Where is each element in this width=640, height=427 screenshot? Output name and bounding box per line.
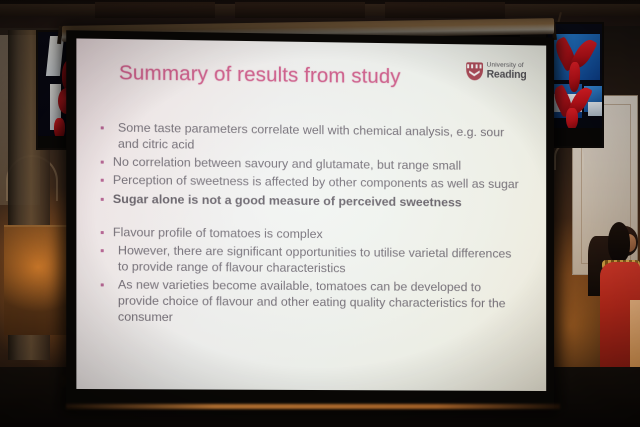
stained-glass-window-right <box>546 22 604 148</box>
crest-chevron <box>469 70 480 76</box>
bullet-item: Perception of sweetness is affected by o… <box>101 172 521 193</box>
glass-petal <box>566 108 578 130</box>
screen-bottom-glow <box>66 404 560 409</box>
bullet-marker-icon <box>101 283 104 286</box>
ceiling-panel <box>235 2 365 18</box>
bullet-marker-icon <box>101 231 104 234</box>
lecture-room-scene: Summary of results from study University… <box>0 0 640 427</box>
projector-screen: Summary of results from study University… <box>66 30 554 409</box>
bullet-item: However, there are significant opportuni… <box>101 242 521 278</box>
bullet-text: Flavour profile of tomatoes is complex <box>113 224 323 242</box>
bullet-group-1: Some taste parameters correlate well wit… <box>101 119 521 210</box>
bullet-marker-icon <box>101 179 104 182</box>
bullet-text: No correlation between savoury and gluta… <box>113 154 461 174</box>
slide-title: Summary of results from study <box>119 61 401 89</box>
bullet-marker-icon <box>101 197 104 200</box>
ceiling-panel <box>95 2 215 18</box>
bullet-item: Some taste parameters correlate well wit… <box>101 119 521 156</box>
logo-wordmark: University of Reading <box>487 63 527 81</box>
ceiling-panel <box>385 2 505 18</box>
bullet-marker-icon <box>101 249 104 252</box>
bullet-text: However, there are significant opportuni… <box>113 242 521 278</box>
audience-member-hair <box>608 222 630 262</box>
bullet-text: Perception of sweetness is affected by o… <box>113 172 519 193</box>
presentation-slide: Summary of results from study University… <box>76 38 546 391</box>
bullet-text: As new varieties become available, tomat… <box>113 276 521 327</box>
bullet-item: No correlation between savoury and gluta… <box>101 154 521 175</box>
logo-line-reading: Reading <box>487 69 527 80</box>
bullet-marker-icon <box>101 161 104 164</box>
bullet-marker-icon <box>101 126 104 129</box>
crest-band <box>467 64 482 69</box>
slide-bullet-list: Some taste parameters correlate well wit… <box>101 119 521 329</box>
bullet-group-2: Flavour profile of tomatoes is complex H… <box>101 224 521 328</box>
bullet-item: As new varieties become available, tomat… <box>101 276 521 327</box>
bullet-text: Some taste parameters correlate well wit… <box>113 119 521 156</box>
bullet-text: Sugar alone is not a good measure of per… <box>113 190 462 210</box>
university-logo: University of Reading <box>466 62 527 81</box>
university-crest-icon <box>466 62 483 80</box>
bullet-item: Flavour profile of tomatoes is complex <box>101 224 521 244</box>
bullet-item-emphasised: Sugar alone is not a good measure of per… <box>101 190 521 210</box>
glass-frame <box>548 128 602 148</box>
left-plinth-uplit <box>4 225 70 335</box>
glass-pane <box>588 102 603 116</box>
